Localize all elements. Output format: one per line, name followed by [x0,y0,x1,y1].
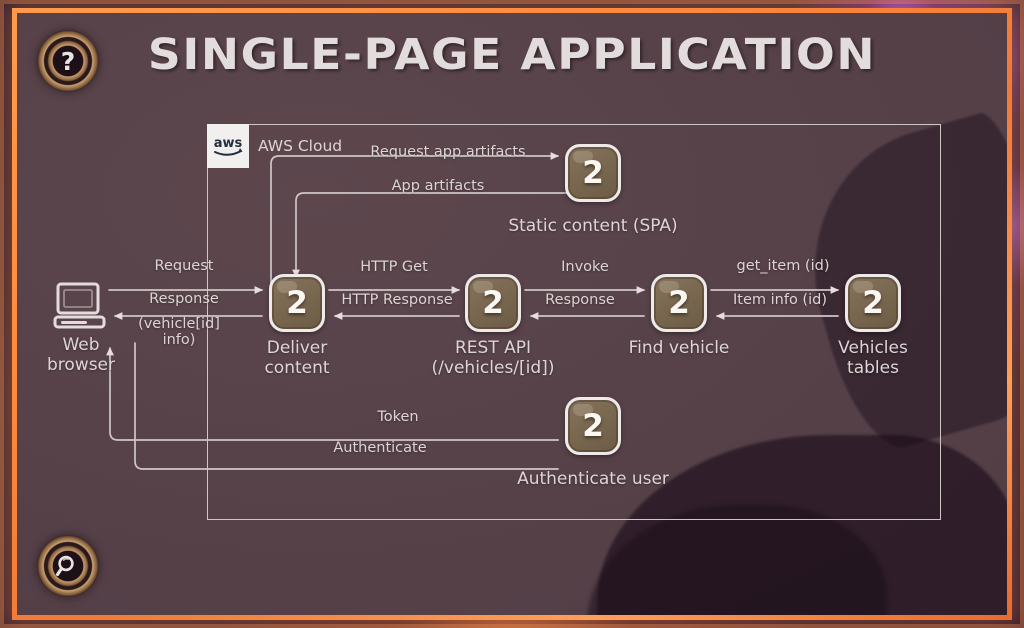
aws-cloud-label: AWS Cloud [258,137,342,155]
label-get-item: get_item (id) [693,258,873,274]
node-glyph: 2 [582,411,604,442]
aws-logo: aws [207,124,249,168]
node-glyph: 2 [482,288,504,319]
label-app-artifacts: App artifacts [348,178,528,194]
node-authenticate-user[interactable]: 2 [565,397,621,455]
help-button[interactable]: ? [37,30,99,92]
label-invoke: Invoke [495,259,675,275]
caption-rest-api: REST API (/vehicles/[id]) [403,338,583,378]
node-glyph: 2 [668,288,690,319]
node-glyph: 2 [862,288,884,319]
caption-vehicles-tables: Vehicles tables [783,338,963,378]
slide-stage: SINGLE-PAGE APPLICATION [0,0,1024,628]
caption-authenticate-user: Authenticate user [503,469,683,489]
label-item-info: Item info (id) [690,292,870,308]
aws-wordmark-icon: aws [211,133,245,159]
label-authenticate: Authenticate [290,440,470,456]
label-request-app-artifacts: Request app artifacts [358,144,538,160]
label-token: Token [308,409,488,425]
node-glyph: 2 [286,288,308,319]
slide-surface: SINGLE-PAGE APPLICATION [17,13,1007,615]
svg-text:aws: aws [214,136,243,151]
magnifier-icon [55,553,81,579]
label-request: Request [94,258,274,274]
node-static-content[interactable]: 2 [565,144,621,202]
node-glyph: 2 [582,158,604,189]
label-vehicle-info: (vehicle[id] info) [89,316,269,348]
caption-find-vehicle: Find vehicle [589,338,769,358]
label-http-response: HTTP Response [307,292,487,308]
architecture-diagram: aws AWS Cloud Web browser 2 St [17,13,1007,615]
question-mark-icon: ? [61,49,76,74]
zoom-button[interactable] [37,535,99,597]
caption-static-content: Static content (SPA) [503,216,683,236]
label-response: Response [94,291,274,307]
label-api-response: Response [490,292,670,308]
label-http-get: HTTP Get [304,259,484,275]
